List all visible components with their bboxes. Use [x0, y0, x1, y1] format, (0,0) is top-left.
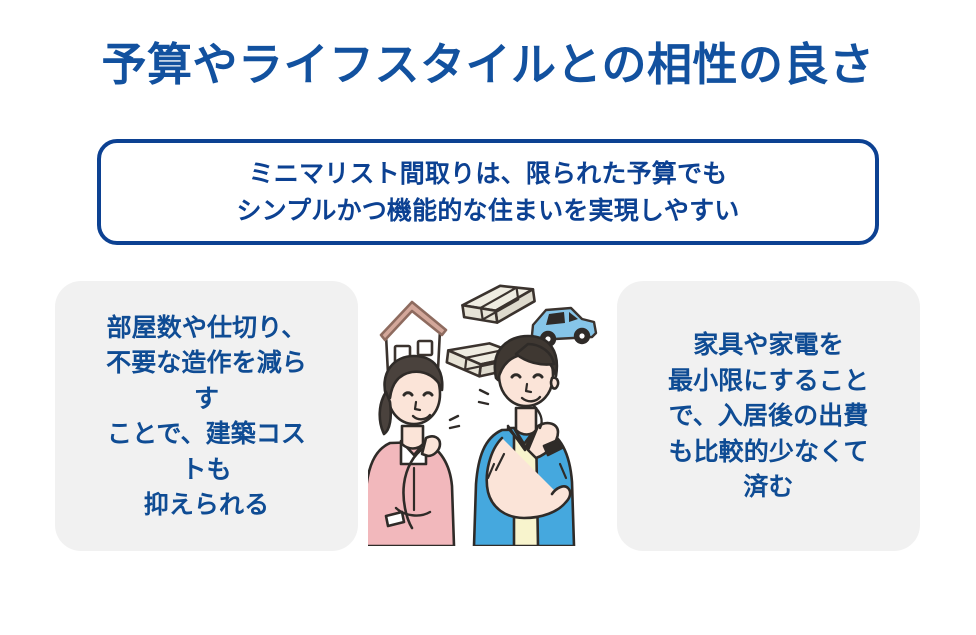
woman-thinking-figure [368, 356, 459, 546]
benefit-card-right: 家具や家電を 最小限にすること で、入居後の出費 も比較的少なくて 済む [617, 281, 920, 551]
benefit-card-left-text: 部屋数や仕切り、 不要な造作を減ら す ことで、建築コス トも 抑えられる [106, 310, 307, 523]
slide-canvas: 予算やライフスタイルとの相性の良さ ミニマリスト間取りは、限られた予算でも シン… [0, 0, 976, 635]
benefit-card-right-text: 家具や家電を 最小限にすること で、入居後の出費 も比較的少なくて 済む [668, 327, 869, 505]
callout-text: ミニマリスト間取りは、限られた予算でも シンプルかつ機能的な住まいを実現しやすい [236, 155, 739, 229]
center-illustration [368, 278, 608, 546]
benefit-card-left: 部屋数や仕切り、 不要な造作を減ら す ことで、建築コス トも 抑えられる [55, 281, 358, 551]
callout-box: ミニマリスト間取りは、限られた予算でも シンプルかつ機能的な住まいを実現しやすい [97, 139, 879, 245]
page-title: 予算やライフスタイルとの相性の良さ [0, 38, 976, 91]
